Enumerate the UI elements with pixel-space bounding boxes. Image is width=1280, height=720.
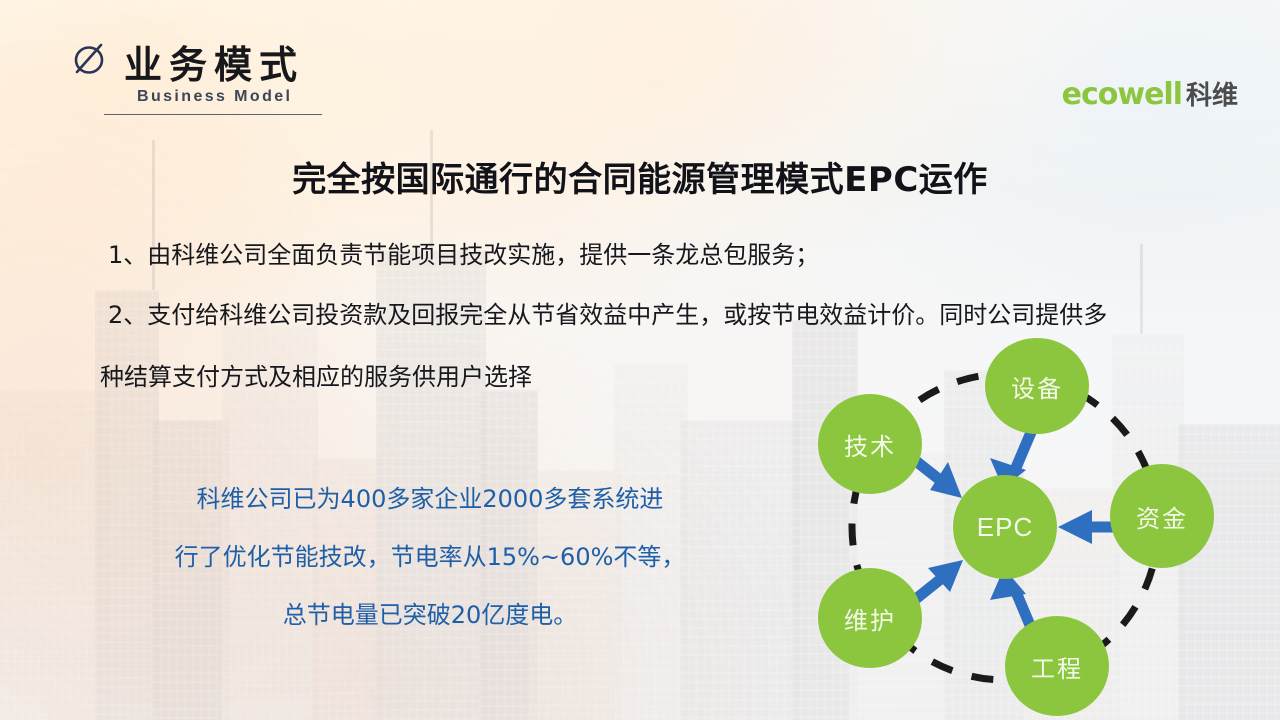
slide-header: 业务模式 Business Model ecowell 科维: [0, 0, 1280, 130]
highlight-line-3: 总节电量已突破20亿度电。: [120, 586, 740, 644]
diagram-node-funding[interactable]: 资金: [1110, 464, 1214, 568]
bullet-item-2: 2、支付给科维公司投资款及回报完全从节省效益中产生，或按节电效益计价。同时公司提…: [108, 296, 1248, 334]
bullet-item-1: 1、由科维公司全面负责节能项目技改实施，提供一条龙总包服务；: [108, 236, 1228, 274]
diagram-node-center[interactable]: EPC: [953, 475, 1057, 579]
highlight-line-1: 科维公司已为400多家企业2000多套系统进: [120, 470, 740, 528]
epc-cycle-diagram: EPC 设备 资金 工程 维护 技术: [800, 330, 1240, 720]
logo-latin-text: ecowell: [1062, 77, 1182, 112]
content-headline: 完全按国际通行的合同能源管理模式EPC运作: [0, 152, 1280, 201]
diagram-node-equipment[interactable]: 设备: [985, 338, 1089, 434]
diagram-node-center-label: EPC: [977, 512, 1033, 543]
highlight-line-2: 行了优化节能技改，节电率从15%~60%不等，: [120, 528, 740, 586]
diagram-node-equipment-label: 设备: [1011, 369, 1063, 404]
bullet-item-2-cont: 种结算支付方式及相应的服务供用户选择: [100, 358, 900, 396]
page-title: 业务模式: [124, 34, 304, 89]
diagram-node-technology[interactable]: 技术: [818, 394, 922, 494]
title-divider: [104, 114, 322, 115]
diagram-node-maintenance[interactable]: 维护: [818, 568, 922, 668]
diagram-node-maintenance-label: 维护: [844, 601, 896, 636]
diagram-node-funding-label: 资金: [1136, 499, 1188, 534]
logo-cn-text: 科维: [1186, 75, 1238, 112]
highlight-paragraph: 科维公司已为400多家企业2000多套系统进 行了优化节能技改，节电率从15%~…: [120, 470, 740, 644]
page-subtitle: Business Model: [137, 88, 292, 106]
diagram-node-engineering[interactable]: 工程: [1005, 616, 1109, 716]
diagram-node-engineering-label: 工程: [1031, 649, 1083, 684]
slide-canvas: 业务模式 Business Model ecowell 科维 完全按国际通行的合…: [0, 0, 1280, 720]
diagram-node-technology-label: 技术: [844, 427, 896, 462]
brand-logo: ecowell 科维: [1062, 75, 1238, 112]
circle-slash-icon: [70, 38, 110, 78]
